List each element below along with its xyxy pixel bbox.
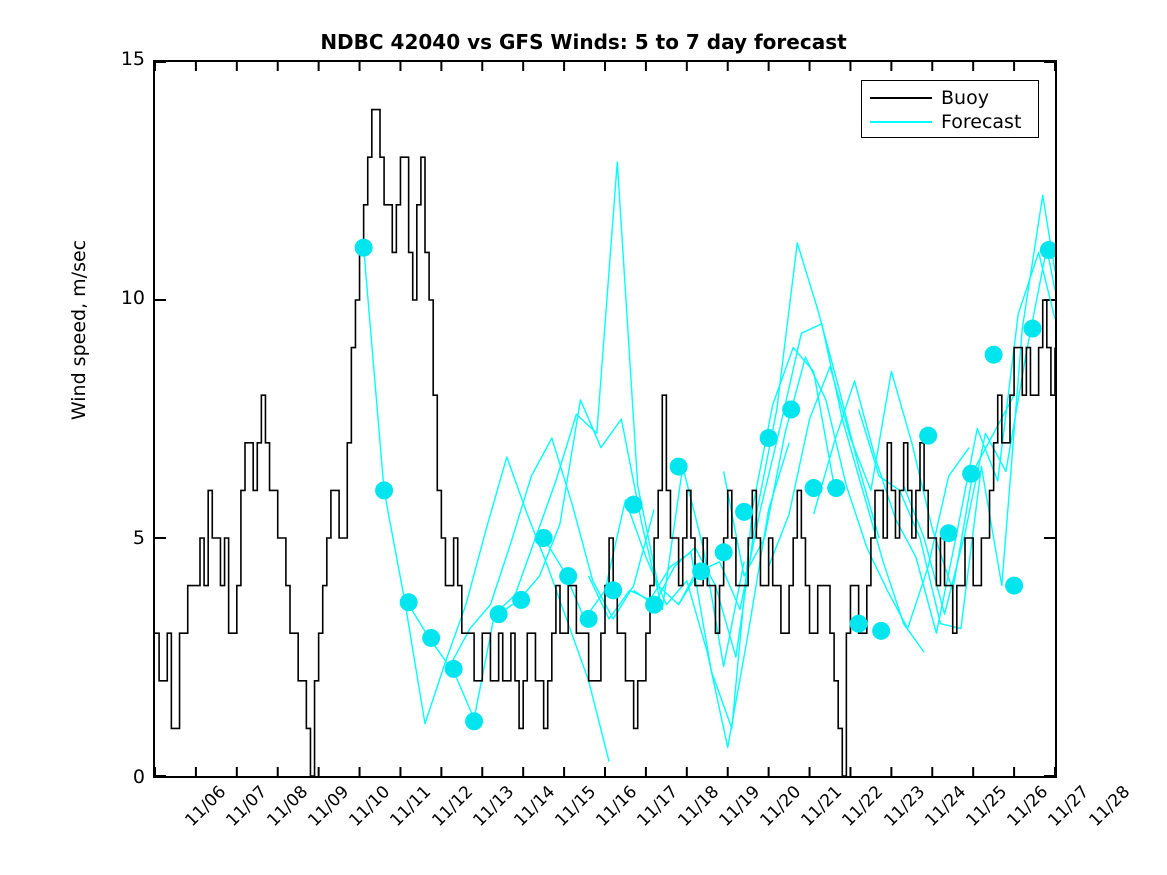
x-tick-label: 11/17 xyxy=(633,782,682,831)
forecast-marker-point-28 xyxy=(1005,577,1023,595)
forecast-marker-point-30 xyxy=(1040,241,1055,259)
y-axis-ticks: 051015 xyxy=(95,60,145,778)
forecast-marker-point-1 xyxy=(375,481,393,499)
legend-label-forecast: Forecast xyxy=(941,113,1021,132)
x-tick-label: 11/19 xyxy=(716,782,765,831)
forecast-marker-point-13 xyxy=(645,596,663,614)
x-tick-label: 11/15 xyxy=(551,782,600,831)
x-tick-label: 11/14 xyxy=(510,782,559,831)
x-tick-label: 11/20 xyxy=(757,782,806,831)
forecast-marker-point-7 xyxy=(512,591,530,609)
x-tick-label: 11/27 xyxy=(1044,782,1093,831)
forecast-marker-point-19 xyxy=(782,400,800,418)
x-tick-label: 11/10 xyxy=(346,782,395,831)
x-tick-label: 11/16 xyxy=(592,782,641,831)
forecast-marker-point-17 xyxy=(735,503,753,521)
forecast-marker-point-14 xyxy=(670,458,688,476)
forecast-marker-point-15 xyxy=(692,562,710,580)
axis-tick-marks xyxy=(155,62,1055,776)
legend-item-forecast: Forecast xyxy=(870,110,1030,134)
x-tick-label: 11/09 xyxy=(305,782,354,831)
forecast-marker-points xyxy=(355,239,1055,731)
forecast-marker-point-0 xyxy=(355,239,373,257)
forecast-marker-point-9 xyxy=(559,567,577,585)
x-tick-label: 11/08 xyxy=(264,782,313,831)
y-tick-label: 10 xyxy=(101,289,145,308)
x-tick-label: 11/22 xyxy=(839,782,888,831)
forecast-marker-point-4 xyxy=(445,660,463,678)
forecast-marker-point-11 xyxy=(604,581,622,599)
chart-title: NDBC 42040 vs GFS Winds: 5 to 7 day fore… xyxy=(0,30,1167,54)
x-tick-label: 11/18 xyxy=(674,782,723,831)
forecast-marker-point-2 xyxy=(400,593,418,611)
legend-label-buoy: Buoy xyxy=(941,89,989,108)
forecast-marker-point-20 xyxy=(805,479,823,497)
forecast-marker-point-26 xyxy=(962,465,980,483)
x-tick-label: 11/12 xyxy=(428,782,477,831)
x-tick-label: 11/23 xyxy=(880,782,929,831)
forecast-marker-point-3 xyxy=(422,629,440,647)
forecast-marker-point-5 xyxy=(465,712,483,730)
forecast-marker-point-22 xyxy=(850,615,868,633)
x-axis-ticks: 11/0611/0711/0811/0911/1011/1111/1211/13… xyxy=(153,782,1057,875)
x-tick-label: 11/21 xyxy=(798,782,847,831)
forecast-run-6 xyxy=(634,243,879,657)
x-tick-label: 11/13 xyxy=(469,782,518,831)
forecast-marker-point-24 xyxy=(919,427,937,445)
forecast-marker-point-16 xyxy=(715,543,733,561)
forecast-marker-point-21 xyxy=(827,479,845,497)
x-tick-label: 11/07 xyxy=(222,782,271,831)
forecast-marker-point-12 xyxy=(625,496,643,514)
legend: Buoy Forecast xyxy=(861,80,1039,138)
forecast-series-lines xyxy=(364,162,1055,762)
x-tick-label: 11/28 xyxy=(1085,782,1134,831)
legend-swatch-forecast xyxy=(870,121,932,123)
legend-item-buoy: Buoy xyxy=(870,86,1030,110)
x-tick-label: 11/06 xyxy=(181,782,230,831)
y-tick-label: 15 xyxy=(101,50,145,69)
x-tick-label: 11/24 xyxy=(921,782,970,831)
x-tick-label: 11/26 xyxy=(1003,782,1052,831)
plot-svg xyxy=(155,62,1055,776)
plot-area xyxy=(153,60,1057,778)
forecast-marker-point-18 xyxy=(760,429,778,447)
forecast-marker-point-10 xyxy=(580,610,598,628)
y-axis-label: Wind speed, m/sec xyxy=(68,180,90,480)
forecast-marker-point-8 xyxy=(535,529,553,547)
forecast-marker-point-29 xyxy=(1024,320,1042,338)
x-tick-label: 11/25 xyxy=(962,782,1011,831)
forecast-marker-point-27 xyxy=(985,346,1003,364)
y-tick-label: 0 xyxy=(101,768,145,787)
legend-swatch-buoy xyxy=(870,97,932,99)
y-tick-label: 5 xyxy=(101,529,145,548)
forecast-marker-point-6 xyxy=(490,605,508,623)
x-tick-label: 11/11 xyxy=(387,782,436,831)
forecast-marker-point-23 xyxy=(872,622,890,640)
chart-page: NDBC 42040 vs GFS Winds: 5 to 7 day fore… xyxy=(0,0,1167,875)
forecast-marker-point-25 xyxy=(940,524,958,542)
